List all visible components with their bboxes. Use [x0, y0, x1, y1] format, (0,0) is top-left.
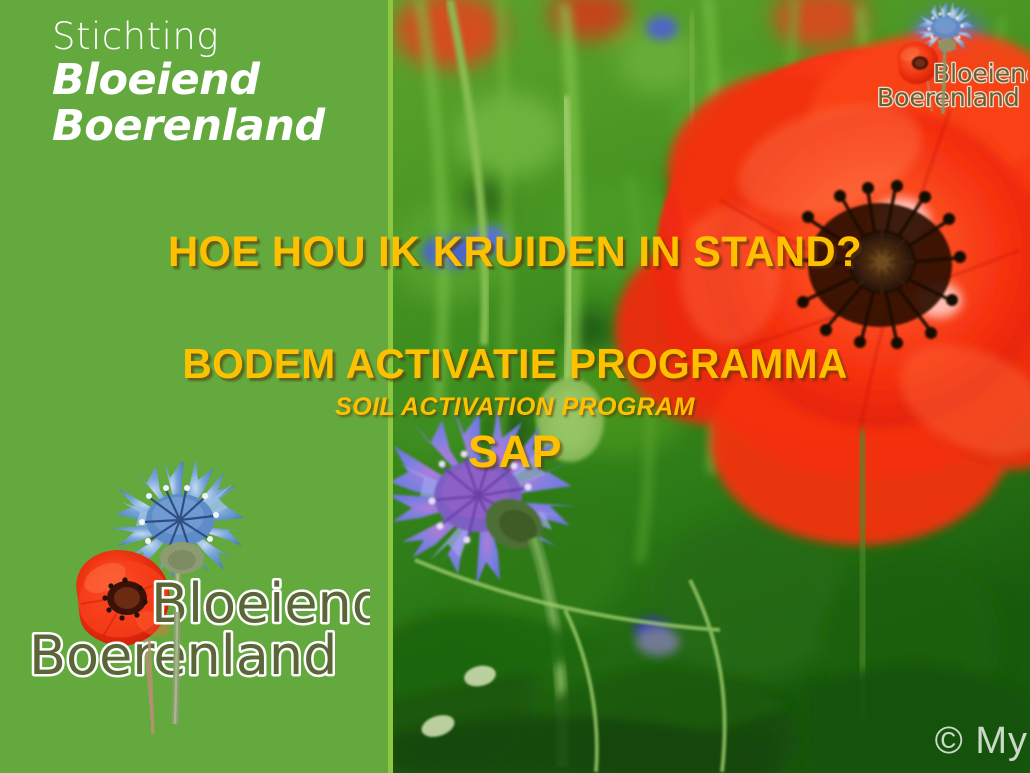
main-question-title: HOE HOU IK KRUIDEN IN STAND?	[15, 228, 1014, 277]
logo-word-boerenland: Boerenland	[29, 624, 337, 687]
watermark-word-boerenland: Boerenland	[877, 83, 1020, 112]
watermark-logo: Bloeiend Boerenland	[873, 2, 1028, 114]
logo-illustration: Bloeiend Boerenland	[25, 462, 370, 742]
program-title-dutch: BODEM ACTIVATIE PROGRAMMA	[15, 340, 1014, 388]
brand-name-line-2: Boerenland	[52, 103, 382, 149]
slide-canvas: Stichting Bloeiend Boerenland HOE HOU IK…	[0, 0, 1030, 773]
program-acronym: SAP	[0, 426, 1030, 478]
program-title-english: SOIL ACTIVATION PROGRAM	[0, 393, 1030, 422]
watermark-logo-illustration: Bloeiend Boerenland	[873, 2, 1028, 114]
bloeiend-boerenland-logo: Bloeiend Boerenland	[25, 462, 370, 742]
brand-prefix: Stichting	[52, 18, 382, 55]
brand-header: Stichting Bloeiend Boerenland	[52, 18, 382, 150]
copyright-notice: © My	[935, 720, 1030, 763]
brand-name-line-1: Bloeiend	[52, 57, 382, 103]
